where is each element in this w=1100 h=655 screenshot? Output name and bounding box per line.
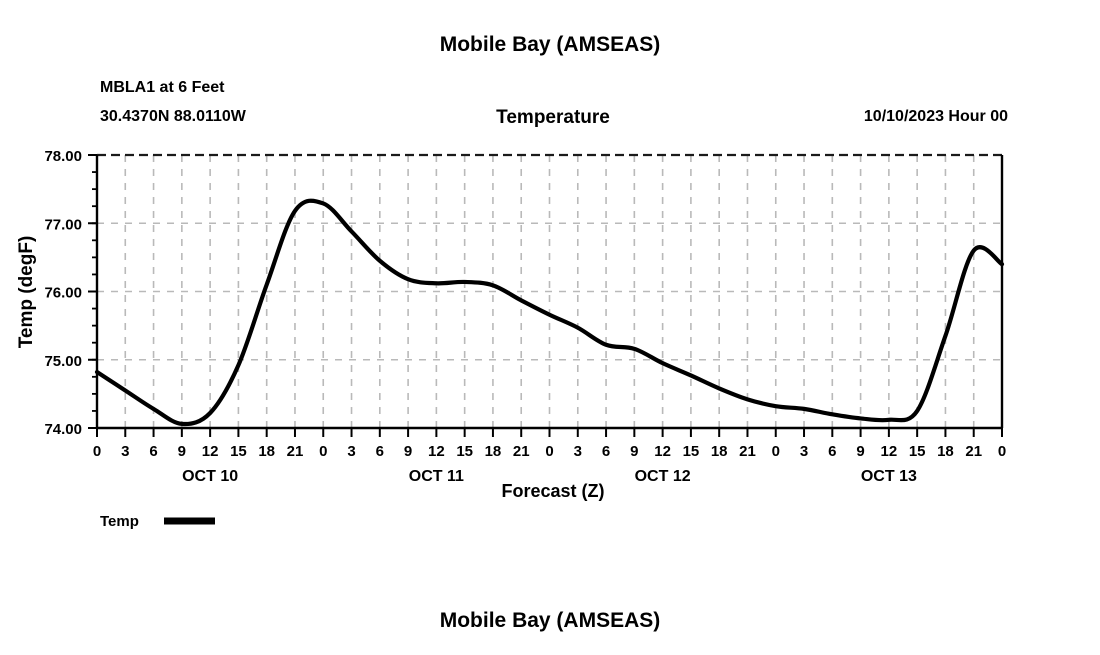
- x-axis-tick-label: 0: [772, 443, 780, 460]
- x-axis-tick-label: 15: [456, 443, 473, 460]
- y-axis-title: Temp (degF): [16, 236, 37, 349]
- y-axis-tick-label: 77.00: [44, 216, 82, 233]
- chart-bottom-title: Mobile Bay (AMSEAS): [440, 609, 661, 632]
- y-axis-tick-labels: 74.0075.0076.0077.0078.00: [44, 148, 82, 438]
- model-run-time-label: 10/10/2023 Hour 00: [864, 108, 1008, 125]
- x-axis-tick-label: 0: [93, 443, 101, 460]
- x-axis-tick-label: 12: [881, 443, 898, 460]
- x-axis-tick-label: 12: [202, 443, 219, 460]
- x-axis-tick-label: 12: [654, 443, 671, 460]
- station-depth-label: MBLA1 at 6 Feet: [100, 79, 225, 96]
- x-axis-day-label: OCT 11: [409, 468, 464, 485]
- x-axis-tick-label: 15: [909, 443, 926, 460]
- x-axis-tick-label: 9: [404, 443, 412, 460]
- x-axis-tick-label: 9: [178, 443, 186, 460]
- x-axis-tick-label: 15: [683, 443, 700, 460]
- x-axis-tick-label: 21: [965, 443, 982, 460]
- x-axis-tick-label: 6: [149, 443, 157, 460]
- x-axis-tick-label: 18: [711, 443, 728, 460]
- station-coords-label: 30.4370N 88.0110W: [100, 108, 247, 125]
- y-axis-tick-label: 78.00: [44, 148, 82, 165]
- x-axis-tick-label: 18: [937, 443, 954, 460]
- x-axis-tick-label: 21: [513, 443, 530, 460]
- x-axis-tick-label: 0: [998, 443, 1006, 460]
- chart-svg: Mobile Bay (AMSEAS) MBLA1 at 6 Feet 30.4…: [0, 0, 1100, 650]
- x-axis-tick-label: 18: [485, 443, 502, 460]
- x-axis-tick-label: 3: [574, 443, 582, 460]
- x-axis-tick-label: 3: [121, 443, 129, 460]
- x-axis-tick-labels: 0369121518210369121518210369121518210369…: [93, 443, 1006, 460]
- x-axis-tick-label: 15: [230, 443, 247, 460]
- y-axis-tick-label: 76.00: [44, 285, 82, 302]
- chart-gridlines: [97, 155, 1002, 428]
- x-axis-tick-label: 21: [287, 443, 304, 460]
- x-axis-tick-label: 9: [630, 443, 638, 460]
- x-axis-tick-label: 6: [828, 443, 836, 460]
- x-axis-tick-label: 9: [856, 443, 864, 460]
- x-axis-tick-label: 12: [428, 443, 445, 460]
- y-axis-tick-label: 75.00: [44, 353, 82, 370]
- chart-top-title: Mobile Bay (AMSEAS): [440, 33, 661, 56]
- x-axis-tick-label: 3: [800, 443, 808, 460]
- forecast-chart-panel: Mobile Bay (AMSEAS) MBLA1 at 6 Feet 30.4…: [0, 0, 1100, 650]
- x-axis-tick-label: 0: [545, 443, 553, 460]
- x-axis-tick-label: 21: [739, 443, 756, 460]
- x-axis-day-label: OCT 10: [182, 468, 238, 485]
- x-axis-tick-label: 3: [347, 443, 355, 460]
- x-axis-tick-label: 6: [376, 443, 384, 460]
- x-axis-day-label: OCT 13: [861, 468, 917, 485]
- y-axis-tick-label: 74.00: [44, 421, 82, 438]
- x-axis-tick-label: 6: [602, 443, 610, 460]
- x-axis-tick-label: 0: [319, 443, 327, 460]
- chart-subtitle: Temperature: [496, 107, 610, 128]
- x-axis-title: Forecast (Z): [501, 481, 604, 501]
- legend-label: Temp: [100, 513, 139, 530]
- x-axis-tick-label: 18: [258, 443, 275, 460]
- x-axis-day-label: OCT 12: [635, 468, 691, 485]
